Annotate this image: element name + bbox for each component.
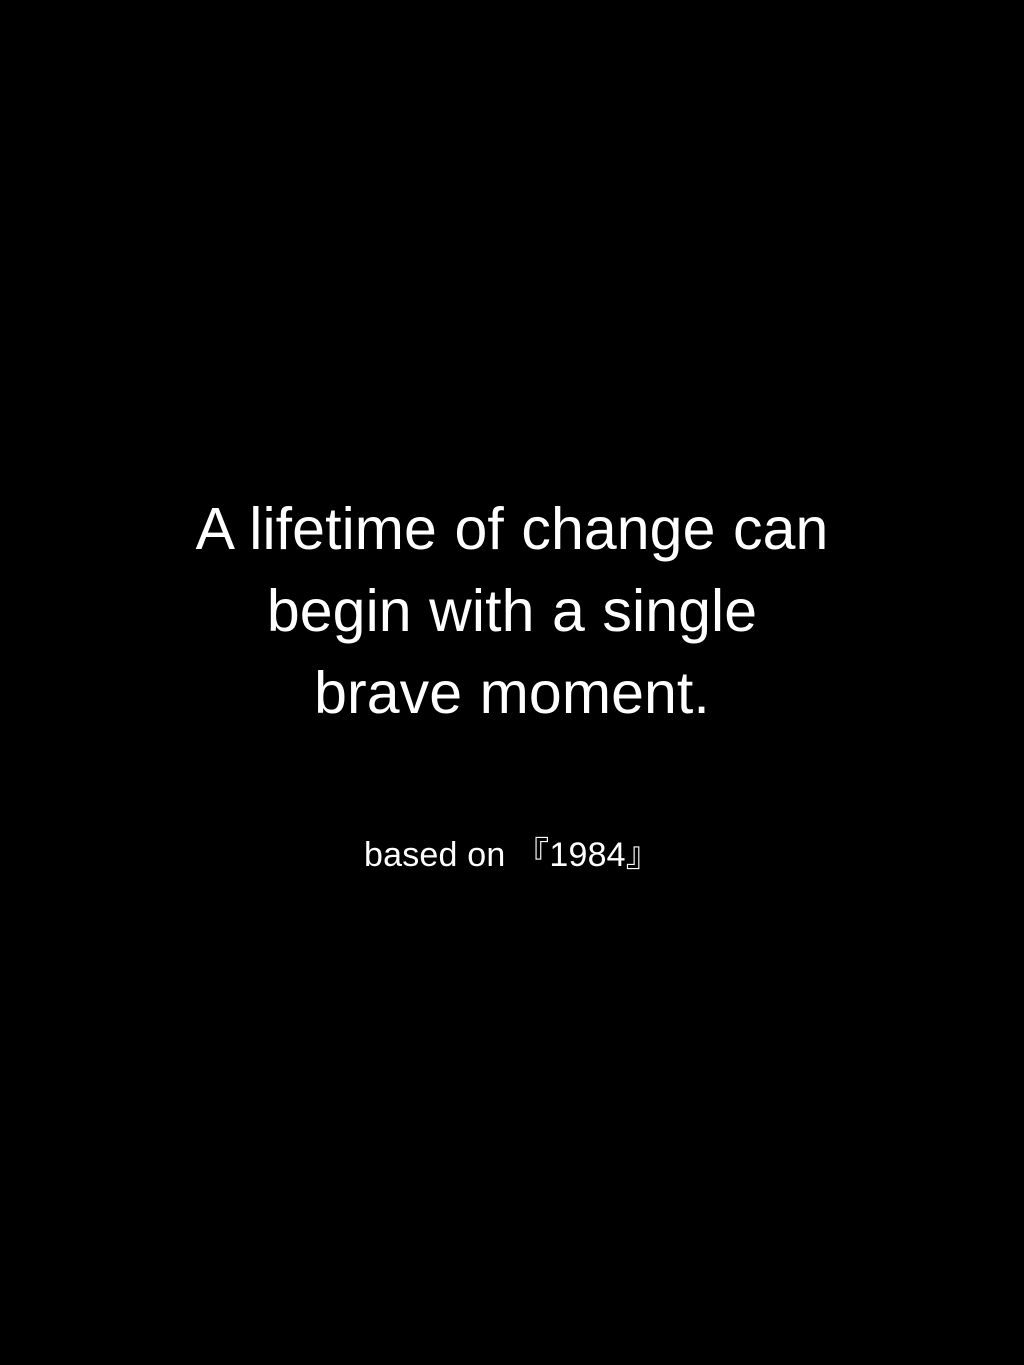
attribution-line: based on 『1984』 (0, 831, 1024, 879)
quote-text: A lifetime of change can begin with a si… (192, 488, 832, 734)
quote-card: A lifetime of change can begin with a si… (0, 0, 1024, 1365)
attribution-prefix: based on (364, 836, 515, 874)
quote-block: A lifetime of change can begin with a si… (0, 488, 1024, 734)
source-title: 『1984』 (515, 836, 660, 874)
